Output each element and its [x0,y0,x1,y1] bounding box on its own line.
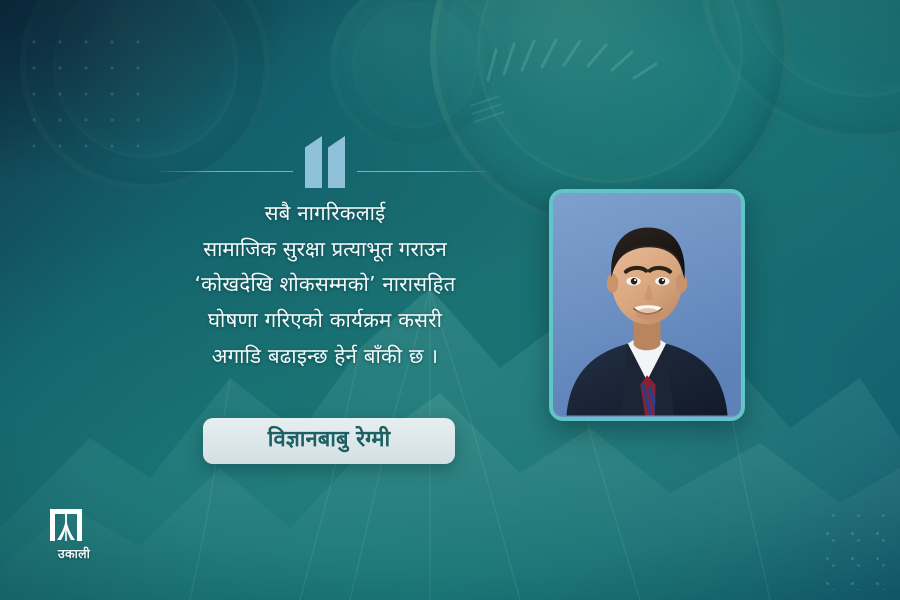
quote-header [155,134,495,190]
portrait-photo [553,193,741,416]
quote-line: सामाजिक सुरक्षा प्रत्याभूत गराउन [155,232,495,268]
dot-grid-top-left [18,26,158,166]
brand-logo: उकाली [46,505,102,561]
quote-text: सबै नागरिकलाई सामाजिक सुरक्षा प्रत्याभूत… [155,196,495,374]
quote-card: सबै नागरिकलाई सामाजिक सुरक्षा प्रत्याभूत… [0,0,900,600]
double-quote-icon [293,136,357,188]
divider-left [155,171,293,172]
quote-line: घोषणा गरिएको कार्यक्रम कसरी [155,303,495,339]
quote-bar-left [305,136,322,188]
divider-right [357,171,495,172]
quote-block: सबै नागरिकलाई सामाजिक सुरक्षा प्रत्याभूत… [155,134,495,374]
quote-line: अगाडि बढाइन्छ हेर्न बाँकी छ । [155,339,495,375]
ukali-logo-mark [46,505,86,545]
brand-name: उकाली [46,548,102,561]
speaker-portrait-frame [549,189,745,421]
quote-line: सबै नागरिकलाई [155,196,495,232]
speaker-name: विज्ञानबाबु रेग्मी [229,426,429,454]
speaker-nameplate: विज्ञानबाबु रेग्मी [203,418,455,464]
dot-grid-bottom-right-secondary [818,500,898,590]
quote-line: ‘कोखदेखि शोकसम्मको’ नारासहित [155,267,495,303]
quote-bar-right [328,136,345,188]
